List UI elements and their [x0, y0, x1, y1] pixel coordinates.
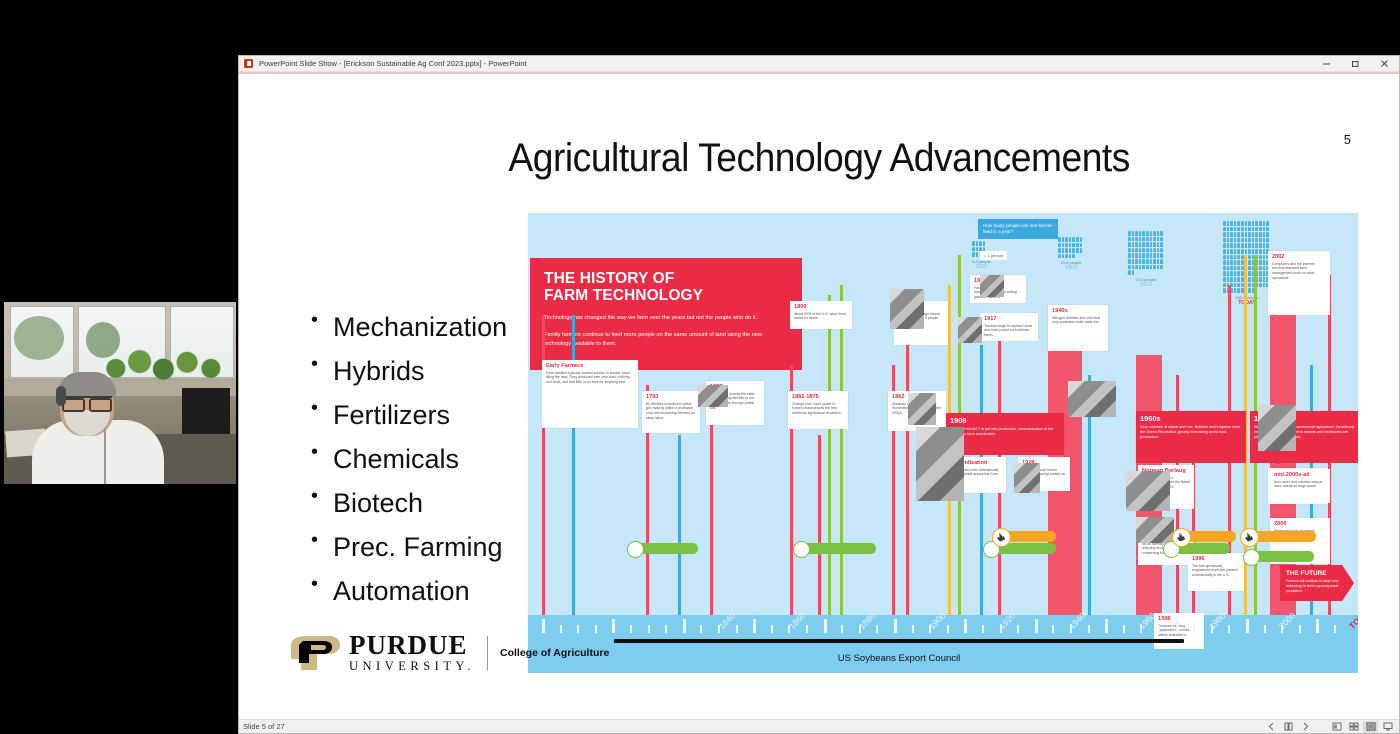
person-icon: [1135, 231, 1138, 236]
person-icon: [1259, 221, 1262, 226]
person-icon: [972, 247, 975, 252]
person-icon: [1255, 227, 1258, 232]
slide-footer: PURDUE UNIVERSITY. College of Agricultur…: [239, 625, 1399, 685]
source-block: US Soybeans Export Council: [614, 639, 1184, 664]
person-icon: [1223, 238, 1226, 243]
person-icon: [1227, 260, 1230, 265]
timeline-stem: [828, 295, 831, 615]
timeline-card-body: Farm families typically worked sunrise t…: [546, 371, 634, 386]
person-icon: [1263, 221, 1266, 226]
purdue-subname: UNIVERSITY.: [349, 659, 475, 674]
next-slide-button[interactable]: [1298, 721, 1313, 733]
person-icon: [1237, 232, 1240, 237]
person-icon: [1128, 242, 1131, 247]
person-icon: [976, 247, 979, 252]
person-icon: [1259, 260, 1262, 265]
person-icon: [1252, 249, 1255, 254]
tractor-badge-icon: [1243, 549, 1260, 566]
person-icon: [1234, 221, 1237, 226]
person-icon: [1139, 237, 1142, 242]
person-icon: [1153, 259, 1156, 264]
timeline-card: mid-2000s-altAuto-steer and robotics red…: [1270, 469, 1330, 503]
slide-canvas[interactable]: 5 Agricultural Technology Advancements M…: [239, 74, 1399, 695]
person-icon: [1223, 288, 1226, 293]
person-icon: [1234, 260, 1237, 265]
person-icon: [1237, 288, 1240, 293]
person-icon: [1157, 259, 1160, 264]
person-icon: [1234, 243, 1237, 248]
powerpoint-window: PowerPoint Slide Show - [Erickson Sustai…: [238, 55, 1400, 734]
person-icon: [979, 247, 982, 252]
person-icon: [1058, 243, 1061, 248]
person-icon: [1157, 237, 1160, 242]
feed-group-year: 1970: [1128, 282, 1164, 288]
person-icon: [1252, 227, 1255, 232]
person-icon: [1259, 249, 1262, 254]
hand-pointer-icon: [992, 528, 1011, 547]
infographic-banner: THE HISTORY OF FARM TECHNOLOGY Technolog…: [530, 258, 802, 370]
timeline-card: 1940sNitrogen fertilizer and chemical cr…: [1048, 305, 1108, 351]
person-icon: [1245, 221, 1248, 226]
person-dot-grid: [972, 241, 988, 257]
person-icon: [1150, 253, 1153, 258]
person-icon: [1248, 255, 1251, 260]
timeline-card-body: Computers and the internet become standa…: [1272, 262, 1326, 282]
person-icon: [1128, 231, 1131, 236]
person-icon: [976, 252, 979, 257]
person-icon: [1135, 242, 1138, 247]
person-dot-grid: [1128, 231, 1164, 275]
person-icon: [1150, 231, 1153, 236]
person-icon: [1245, 238, 1248, 243]
person-icon: [1248, 271, 1251, 276]
hand-pointer-icon: [1240, 528, 1259, 547]
person-icon: [1058, 237, 1061, 242]
person-icon: [1241, 249, 1244, 254]
person-icon: [1259, 283, 1262, 288]
person-icon: [1139, 265, 1142, 270]
person-icon: [1227, 221, 1230, 226]
person-icon: [979, 241, 982, 246]
banner-paragraph-1: Technology has changed the way we farm o…: [544, 314, 788, 322]
timeline-card-body: About 90% of the U.S. labor force works …: [794, 312, 848, 322]
timeline-card-title: 1908: [950, 416, 1060, 425]
person-icon: [1237, 266, 1240, 271]
slide-show-button[interactable]: [1380, 721, 1395, 733]
person-icon: [1146, 259, 1149, 264]
person-icon: [1237, 227, 1240, 232]
person-icon: [1132, 253, 1135, 258]
banner-title: THE HISTORY OF FARM TECHNOLOGY: [544, 270, 788, 305]
title-bar[interactable]: PowerPoint Slide Show - [Erickson Sustai…: [239, 56, 1399, 72]
person-icon: [1237, 255, 1240, 260]
person-icon: [1241, 238, 1244, 243]
person-icon: [1227, 243, 1230, 248]
person-icon: [1234, 277, 1237, 282]
college-name: College of Agriculture: [500, 647, 609, 659]
archival-photo: [916, 427, 964, 501]
person-icon: [1230, 266, 1233, 271]
person-icon: [1142, 253, 1145, 258]
person-icon: [1157, 248, 1160, 253]
person-icon: [1227, 277, 1230, 282]
person-icon: [1266, 243, 1269, 248]
timeline-card-body: Nitrogen fertilizer and chemical crop pr…: [1052, 316, 1104, 326]
person-icon: [972, 252, 975, 257]
tractor-badge-icon: [627, 541, 644, 558]
person-icon: [1072, 254, 1075, 259]
hand-pointer-icon: [1172, 528, 1191, 547]
timeline-card: 1917Tractors begin to replace horse and …: [980, 313, 1038, 341]
person-icon: [1150, 265, 1153, 270]
person-icon: [1065, 243, 1068, 248]
feed-group-year: 1930: [972, 264, 991, 270]
timeline-card-title: 1793: [646, 394, 696, 400]
person-icon: [1266, 221, 1269, 226]
person-icon: [1234, 249, 1237, 254]
previous-slide-button[interactable]: [1264, 721, 1279, 733]
person-icon: [1223, 243, 1226, 248]
person-hair: [58, 372, 116, 398]
person-icon: [1135, 237, 1138, 242]
person-icon: [1150, 248, 1153, 253]
archival-photo: [958, 317, 982, 343]
person-icon: [1259, 271, 1262, 276]
person-icon: [1252, 221, 1255, 226]
person-icon: [1248, 221, 1251, 226]
person-icon: [1135, 253, 1138, 258]
screen: PowerPoint Slide Show - [Erickson Sustai…: [0, 0, 1400, 734]
tractor-badge-icon: [793, 541, 810, 558]
person-icon: [1128, 270, 1131, 275]
person-icon: [1062, 254, 1065, 259]
archival-photo: [1258, 405, 1296, 451]
person-icon: [1252, 238, 1255, 243]
person-icon: [1237, 277, 1240, 282]
progress-bar-green: [798, 543, 876, 554]
purdue-wordmark: PURDUE UNIVERSITY.: [349, 633, 475, 674]
person-icon: [1128, 237, 1131, 242]
person-icon: [1160, 237, 1163, 242]
person-icon: [1065, 254, 1068, 259]
timeline-card: 1862-1875Change from hand power to horse…: [788, 391, 848, 429]
person-icon: [1230, 249, 1233, 254]
logo-divider: [487, 636, 488, 670]
person-icon: [1248, 227, 1251, 232]
person-icon: [1160, 253, 1163, 258]
person-icon: [1248, 232, 1251, 237]
tree-foliage: [14, 316, 64, 360]
timeline-card-title: 1940s: [1052, 308, 1104, 314]
person-icon: [1142, 242, 1145, 247]
infographic-image: THE HISTORY OF FARM TECHNOLOGY Technolog…: [528, 213, 1358, 673]
person-icon: [1263, 283, 1266, 288]
person-icon: [1146, 248, 1149, 253]
person-icon: [1160, 259, 1163, 264]
timeline-card-title: 1862-1875: [792, 394, 844, 400]
headset-earpiece: [56, 386, 66, 406]
close-icon[interactable]: [1370, 56, 1399, 71]
person-icon: [1132, 231, 1135, 236]
person-icon: [1259, 232, 1262, 237]
person-icon: [1157, 253, 1160, 258]
person-icon: [1234, 238, 1237, 243]
window-title: PowerPoint Slide Show - [Erickson Sustai…: [259, 59, 527, 68]
archival-photo: [1014, 463, 1040, 493]
person-icon: [1248, 243, 1251, 248]
person-icon: [1146, 237, 1149, 242]
person-icon: [1263, 277, 1266, 282]
person-icon: [1234, 227, 1237, 232]
archival-photo: [1136, 517, 1174, 543]
person-icon: [1065, 248, 1068, 253]
person-icon: [1139, 231, 1142, 236]
person-icon: [1069, 248, 1072, 253]
person-icon: [1255, 249, 1258, 254]
timeline-card: 2002Computers and the internet become st…: [1268, 251, 1330, 315]
person-icon: [1146, 231, 1149, 236]
archival-photo: [1126, 471, 1170, 511]
person-icon: [1062, 248, 1065, 253]
person-icon: [1230, 221, 1233, 226]
person-icon: [983, 247, 986, 252]
person-icon: [1248, 260, 1251, 265]
person-icon: [1076, 248, 1079, 253]
slide-counter: Slide 5 of 27: [243, 722, 285, 731]
restore-icon[interactable]: [1341, 56, 1370, 71]
person-icon: [1132, 265, 1135, 270]
progress-bar-green: [632, 543, 698, 554]
person-icon: [1142, 237, 1145, 242]
person-icon: [1062, 237, 1065, 242]
future-callout: THE FUTURE Farmers will continue to adop…: [1280, 565, 1354, 601]
person-icon: [1076, 237, 1079, 242]
person-icon: [1248, 249, 1251, 254]
person-icon: [1223, 255, 1226, 260]
source-caption: US Soybeans Export Council: [614, 653, 1184, 664]
person-icon: [1248, 238, 1251, 243]
person-icon: [1135, 248, 1138, 253]
person-icon: [1153, 231, 1156, 236]
progress-bar-orange: [1246, 531, 1316, 542]
person-icon: [1080, 248, 1083, 253]
person-icon: [1234, 255, 1237, 260]
person-icon: [1153, 265, 1156, 270]
person-icon: [1259, 266, 1262, 271]
eyeglasses: [62, 396, 112, 408]
person-icon: [1245, 227, 1248, 232]
person-icon: [1230, 227, 1233, 232]
timeline-card-body: New varieties of wheat and rice, fertili…: [1140, 425, 1242, 441]
person-icon: [1248, 288, 1251, 293]
person-icon: [1135, 265, 1138, 270]
person-icon: [1132, 270, 1135, 275]
person-icon: [1062, 243, 1065, 248]
person-icon: [1128, 248, 1131, 253]
plants: [100, 348, 232, 382]
person-icon: [1157, 231, 1160, 236]
archival-photo: [908, 393, 936, 425]
person-icon: [1263, 266, 1266, 271]
person-icon: [1227, 227, 1230, 232]
person-icon: [1259, 255, 1262, 260]
person-icon: [1160, 265, 1163, 270]
timeline-card-title: Early Farmers: [546, 363, 634, 369]
person-icon: [1237, 238, 1240, 243]
person-icon: [1237, 260, 1240, 265]
person-icon: [1245, 232, 1248, 237]
person-icon: [1266, 232, 1269, 237]
person-icon: [1223, 266, 1226, 271]
person-icon: [1266, 227, 1269, 232]
timeline-card-title: 2006: [1274, 521, 1326, 527]
timeline-card-body: Change from hand power to horses charact…: [792, 402, 844, 417]
person-icon: [1223, 221, 1226, 226]
person-icon: [1153, 237, 1156, 242]
purdue-logo: PURDUE UNIVERSITY. College of Agricultur…: [289, 633, 609, 674]
timeline-stem: [906, 325, 909, 615]
person-icon: [1227, 255, 1230, 260]
person-icon: [1259, 238, 1262, 243]
person-icon: [1255, 232, 1258, 237]
person-icon: [1080, 237, 1083, 242]
feed-group-year: 1960: [1058, 265, 1084, 271]
person-icon: [1058, 248, 1061, 253]
person-icon: [1255, 238, 1258, 243]
timeline-card: 1800About 90% of the U.S. labor force wo…: [790, 301, 852, 329]
person-icon: [1132, 237, 1135, 242]
person-icon: [1132, 242, 1135, 247]
person-icon: [1248, 266, 1251, 271]
timeline-card-title: 1800: [794, 304, 848, 310]
header-question: How many people can one farmer feed in a…: [978, 219, 1058, 239]
person-icon: [1241, 243, 1244, 248]
timeline-card-title: 1917: [984, 316, 1034, 322]
person-icon: [1223, 271, 1226, 276]
slide-menu-button[interactable]: [1281, 721, 1296, 733]
person-icon: [1076, 243, 1079, 248]
person-icon: [1263, 255, 1266, 260]
monitor: [182, 388, 230, 440]
person-icon: [1072, 243, 1075, 248]
person-icon: [1230, 271, 1233, 276]
person-icon: [1227, 249, 1230, 254]
person-icon: [1241, 232, 1244, 237]
progress-bar-green: [1248, 551, 1314, 562]
person-icon: [1245, 243, 1248, 248]
person-icon: [983, 241, 986, 246]
banner-title-line2: FARM TECHNOLOGY: [544, 287, 703, 304]
timeline-card-body: Tractors begin to replace horse and mule…: [984, 324, 1034, 339]
person-icon: [1230, 243, 1233, 248]
person-icon: [1223, 227, 1226, 232]
person-icon: [1230, 238, 1233, 243]
person-icon: [1263, 227, 1266, 232]
timeline-card-body: Eli Whitney invents the cotton gin, maki…: [646, 402, 696, 422]
person-icon: [1150, 259, 1153, 264]
banner-title-line1: THE HISTORY OF: [544, 270, 674, 287]
timeline-card-title: 1996: [1192, 556, 1240, 562]
person-icon: [1227, 232, 1230, 237]
person-icon: [1142, 248, 1145, 253]
person-icon: [1227, 271, 1230, 276]
timeline-card: 1793Eli Whitney invents the cotton gin, …: [642, 391, 700, 433]
person-icon: [1223, 260, 1226, 265]
timeline-card-title: 2002: [1272, 254, 1326, 260]
person-icon: [1128, 253, 1131, 258]
feed-group: 72.0 people1970: [1128, 231, 1164, 288]
webcam-video-feed[interactable]: [4, 302, 236, 484]
person-icon: [1227, 238, 1230, 243]
reading-view-button[interactable]: [1363, 721, 1378, 733]
future-body: Farmers will continue to adopt new techn…: [1286, 579, 1348, 593]
person-icon: [1237, 221, 1240, 226]
timeline-card-body: The first genetically engineered crops a…: [1192, 564, 1240, 579]
person-icon: [1252, 232, 1255, 237]
slide-sorter-button[interactable]: [1346, 721, 1361, 733]
person-icon: [1132, 259, 1135, 264]
person-icon: [1058, 254, 1061, 259]
person-icon: [1263, 243, 1266, 248]
person-icon: [1160, 242, 1163, 247]
person-icon: [1234, 288, 1237, 293]
bullet-list: Mechanization Hybrids Fertilizers Chemic…: [269, 305, 571, 613]
person-icon: [1153, 253, 1156, 258]
person-icon: [1230, 277, 1233, 282]
timeline-card-body: The Ford Model T is put into production;…: [950, 427, 1060, 438]
normal-view-button[interactable]: [1329, 721, 1344, 733]
person-icon: [1234, 283, 1237, 288]
timeline-stem: [818, 435, 821, 615]
person-icon: [1259, 243, 1262, 248]
person-icon: [1259, 227, 1262, 232]
timeline-card: Early FarmersFarm families typically wor…: [542, 360, 638, 428]
person-icon: [1255, 243, 1258, 248]
person-icon: [1153, 248, 1156, 253]
person-icon: [1142, 231, 1145, 236]
purdue-name: PURDUE: [349, 633, 475, 659]
progress-bar-orange: [1178, 531, 1236, 542]
person-icon: [1146, 242, 1149, 247]
person-icon: [1150, 237, 1153, 242]
timeline-stem: [678, 435, 681, 615]
person-icon: [1230, 260, 1233, 265]
person-icon: [1263, 249, 1266, 254]
archival-photo: [890, 289, 924, 329]
timeline-card: 1960sNew varieties of wheat and rice, fe…: [1136, 411, 1246, 463]
person-icon: [1245, 249, 1248, 254]
person-icon: [1065, 237, 1068, 242]
feed-group: 9.8 people1930: [972, 241, 991, 270]
person-icon: [1153, 242, 1156, 247]
person-icon: [1263, 271, 1266, 276]
person-icon: [1139, 253, 1142, 258]
person-icon: [1069, 237, 1072, 242]
progress-bar-orange: [998, 531, 1056, 542]
person-icon: [1230, 232, 1233, 237]
person-icon: [1241, 227, 1244, 232]
archival-photo: [698, 385, 728, 407]
video-pane: [0, 0, 238, 734]
timeline-card-title: 1960s: [1140, 414, 1242, 423]
person-icon: [1072, 248, 1075, 253]
minimize-icon[interactable]: [1312, 56, 1341, 71]
person-icon: [1227, 266, 1230, 271]
timeline-card-body: Auto-steer and robotics reduce labor nee…: [1274, 480, 1326, 490]
person-icon: [1132, 248, 1135, 253]
purdue-p-logo: [289, 633, 341, 673]
person-icon: [1266, 238, 1269, 243]
